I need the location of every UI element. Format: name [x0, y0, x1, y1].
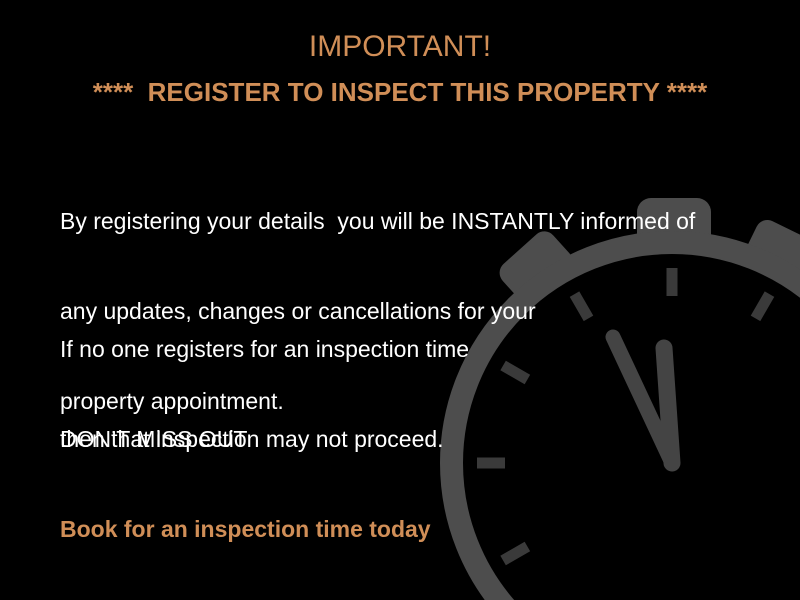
paragraph-line: By registering your details you will be …: [60, 206, 695, 236]
cta-line-dont-miss-out: DON’T MISS OUT: [60, 424, 431, 454]
page-title: IMPORTANT!: [0, 29, 800, 65]
text-layer: IMPORTANT! **** REGISTER TO INSPECT THIS…: [0, 0, 800, 600]
cta-line-book-inspection: Book for an inspection time today: [60, 514, 431, 544]
promo-slide: IMPORTANT! **** REGISTER TO INSPECT THIS…: [0, 0, 800, 600]
call-to-action-block: DON’T MISS OUT Book for an inspection ti…: [60, 364, 431, 600]
paragraph-line: If no one registers for an inspection ti…: [60, 334, 469, 364]
page-subtitle: **** REGISTER TO INSPECT THIS PROPERTY *…: [0, 76, 800, 108]
